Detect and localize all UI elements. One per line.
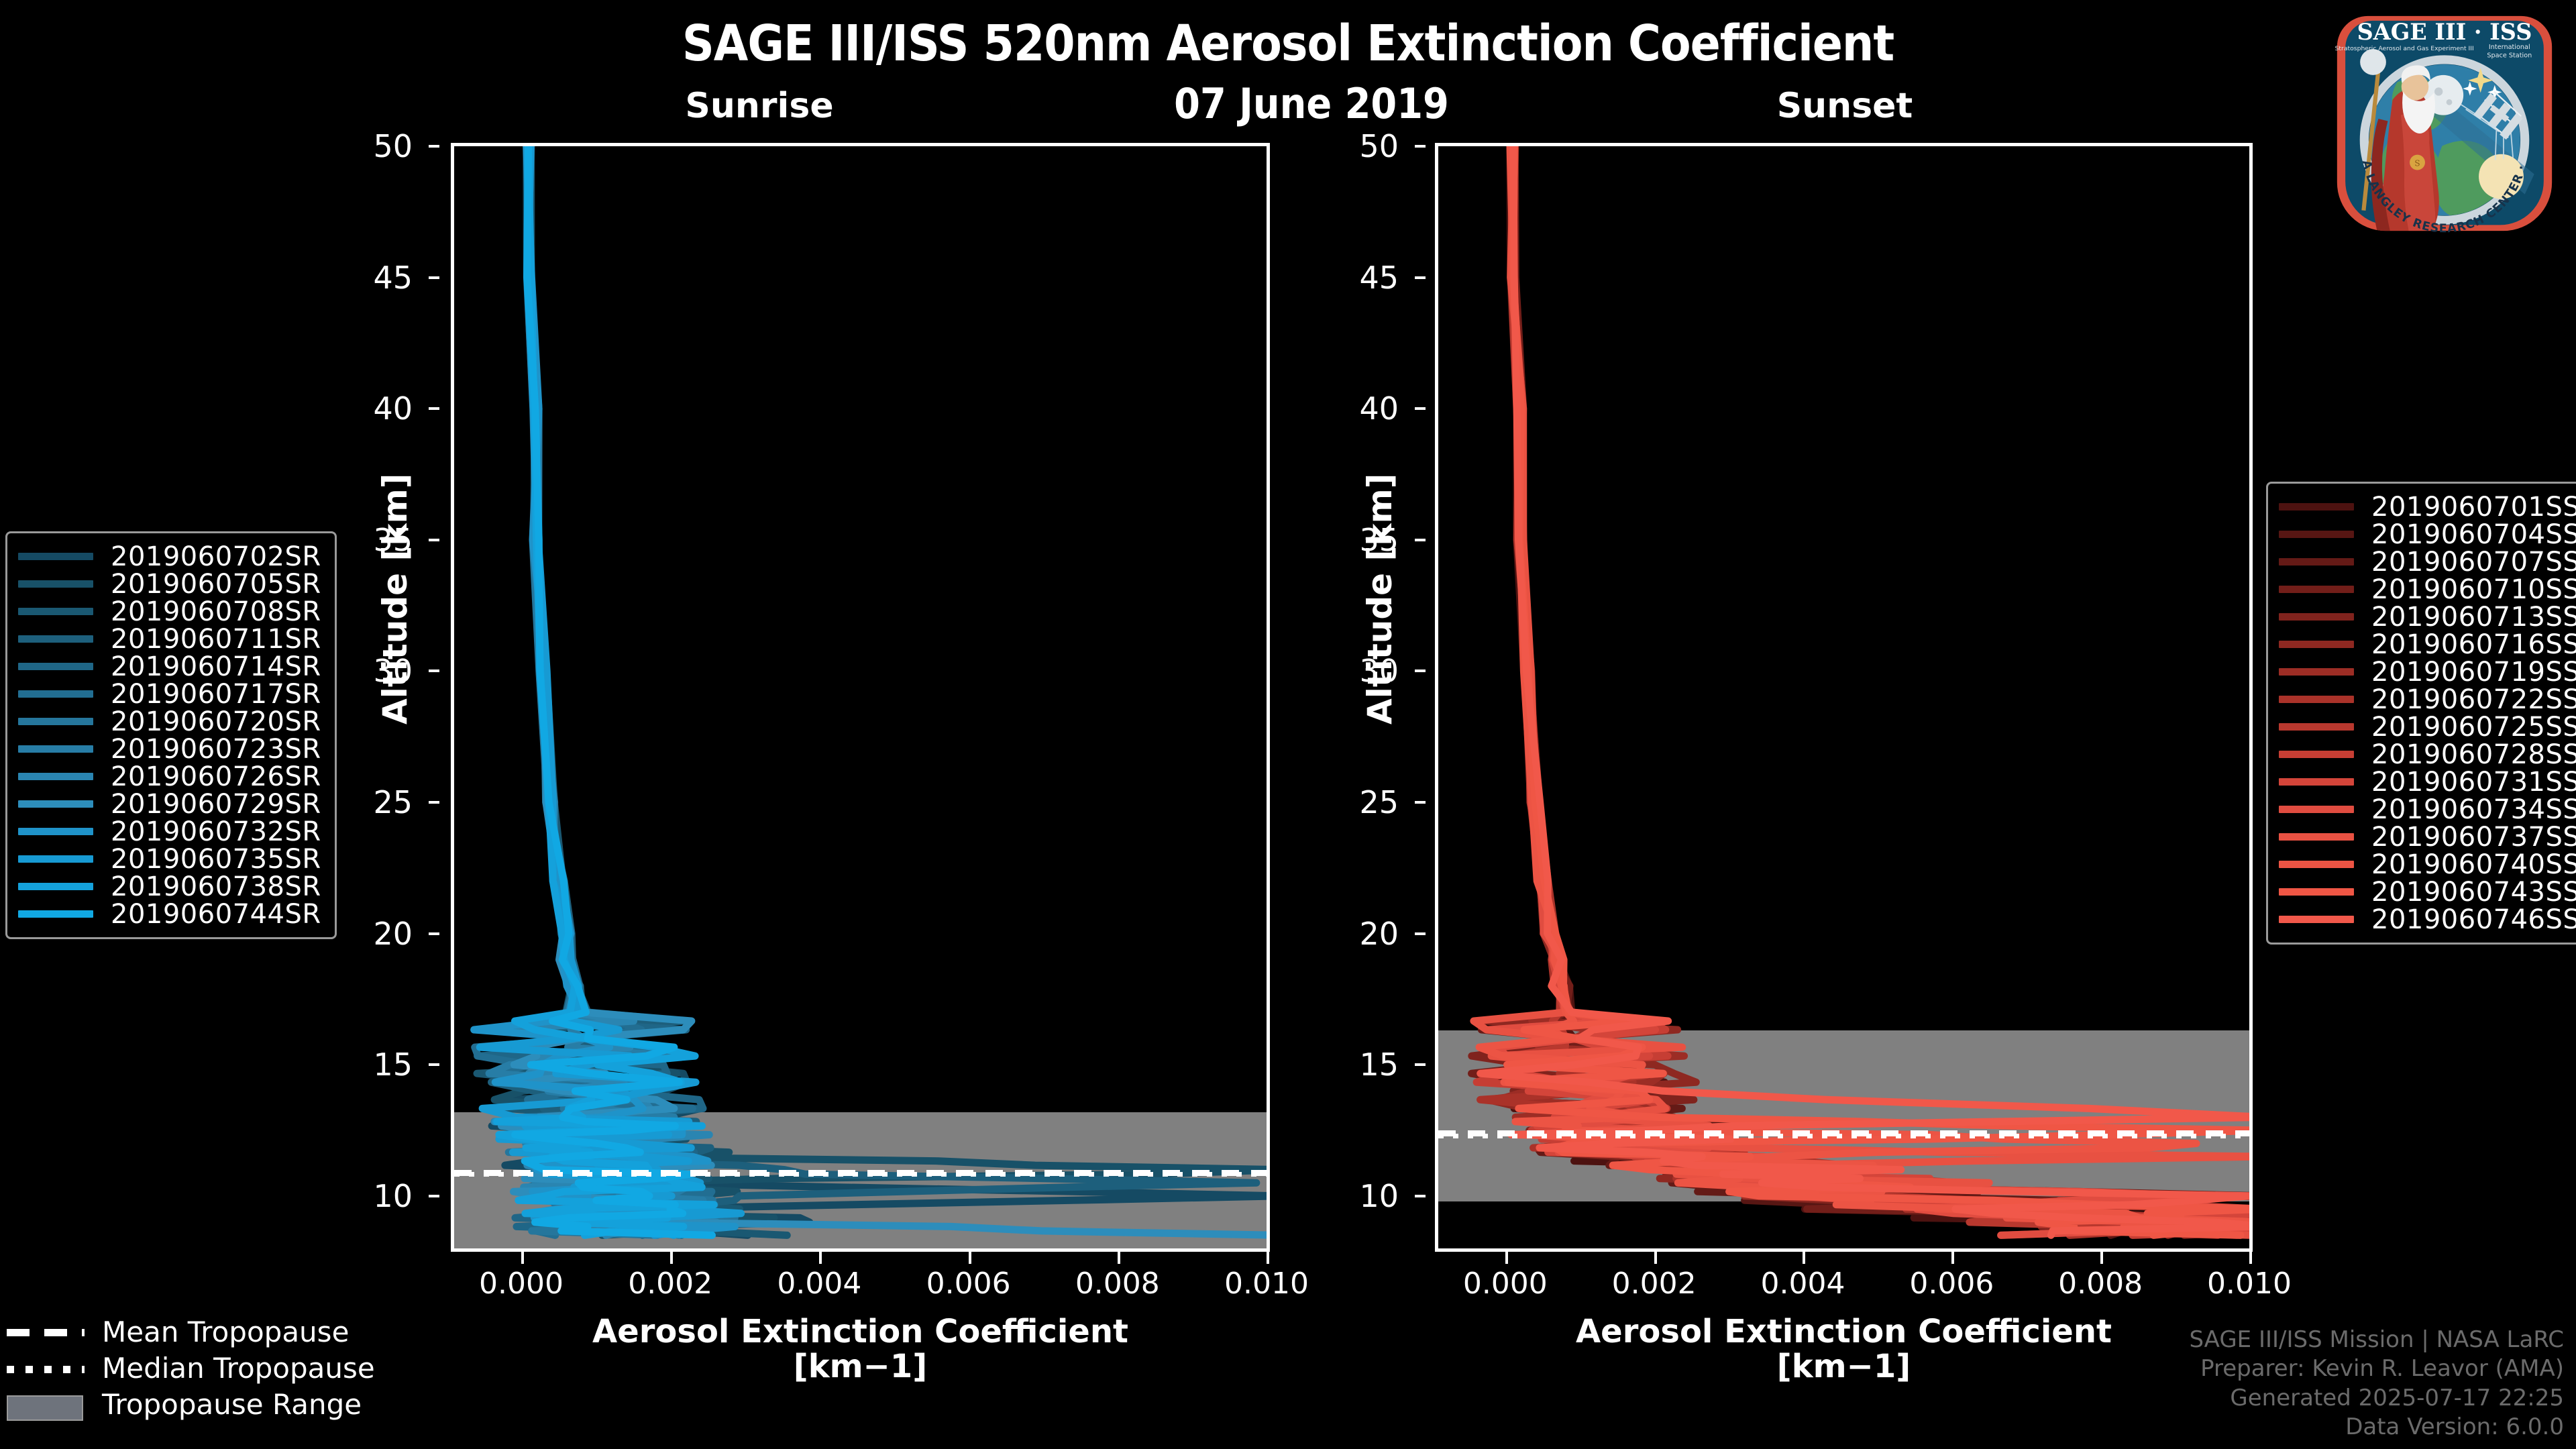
legend-item[interactable]: 2019060731SS (2279, 768, 2576, 796)
legend-item-label: 2019060738SR (111, 871, 321, 902)
plot-area-sunrise (451, 143, 1270, 1252)
legend-sunrise[interactable]: 2019060702SR2019060705SR2019060708SR2019… (5, 531, 337, 939)
x-axis-title-sunset: Aerosol Extinction Coefficient [km−1] (1435, 1315, 2253, 1385)
plot-area-sunset (1435, 143, 2253, 1252)
legend-item[interactable]: 2019060740SS (2279, 851, 2576, 878)
legend-item-label: 2019060734SS (2371, 794, 2576, 825)
x-tick-mark (2249, 1252, 2252, 1264)
legend-color-swatch (18, 828, 93, 835)
legend-item[interactable]: 2019060714SR (18, 653, 321, 680)
legend-color-swatch (18, 910, 93, 918)
x-tick-mark (969, 1252, 971, 1264)
x-tick-mark (1505, 1252, 1508, 1264)
legend-item[interactable]: 2019060746SS (2279, 906, 2576, 933)
legend-item[interactable]: 2019060702SR (18, 543, 321, 570)
y-tick-mark (1415, 801, 1426, 804)
legend-color-swatch (2279, 888, 2354, 896)
x-tick-mark (1951, 1252, 1954, 1264)
legend-item[interactable]: 2019060744SR (18, 900, 321, 928)
y-tick-label: 50 (373, 128, 413, 164)
y-axis-title-sunrise: Altitude [km] (376, 473, 415, 724)
legend-color-swatch (2279, 861, 2354, 868)
legend-item-label: 2019060728SS (2371, 739, 2576, 770)
logo-subtitle-right-1: International (2489, 44, 2530, 51)
x-tick-label: 0.000 (1432, 1267, 1579, 1301)
legend-color-swatch (2279, 613, 2354, 621)
legend-item[interactable]: 2019060732SR (18, 818, 321, 845)
x-tick-label: 0.008 (2027, 1267, 2174, 1301)
y-tick-mark (429, 539, 439, 541)
y-tick-mark (429, 276, 439, 279)
tropopause-legend-item: Tropopause Range (7, 1386, 375, 1422)
mean-tropopause-key (7, 1323, 85, 1340)
y-tick-label: 10 (373, 1178, 413, 1214)
y-tick-label: 15 (1359, 1046, 1399, 1083)
legend-item-label: 2019060705SR (111, 569, 321, 600)
y-tick-mark (429, 407, 439, 410)
svg-text:S: S (2414, 158, 2420, 168)
legend-color-swatch (2279, 503, 2354, 511)
legend-item[interactable]: 2019060726SR (18, 763, 321, 790)
y-tick-label: 25 (1359, 784, 1399, 820)
legend-item[interactable]: 2019060707SS (2279, 548, 2576, 576)
legend-item-label: 2019060723SR (111, 734, 321, 765)
legend-item-label: 2019060711SR (111, 624, 321, 655)
y-tick-label: 50 (1359, 128, 1399, 164)
legend-item[interactable]: 2019060716SS (2279, 631, 2576, 658)
legend-item-label: 2019060720SR (111, 706, 321, 737)
legend-color-swatch (18, 690, 93, 698)
legend-item-label: 2019060746SS (2371, 904, 2576, 935)
legend-color-swatch (18, 718, 93, 725)
credits-block: SAGE III/ISS Mission | NASA LaRCPreparer… (2189, 1326, 2564, 1442)
legend-item[interactable]: 2019060719SS (2279, 658, 2576, 686)
legend-item-label: 2019060702SR (111, 541, 321, 572)
date-subtitle: 07 June 2019 (1010, 79, 1613, 128)
x-tick-label: 0.004 (745, 1267, 893, 1301)
x-axis-title-line1: Aerosol Extinction Coefficient (1435, 1315, 2253, 1350)
x-tick-label: 0.006 (895, 1267, 1042, 1301)
x-tick-mark (819, 1252, 822, 1264)
series-line (1507, 146, 2250, 1235)
y-tick-mark (429, 932, 439, 935)
legend-item[interactable]: 2019060701SS (2279, 493, 2576, 521)
x-tick-label: 0.006 (1878, 1267, 2025, 1301)
legend-item-label: 2019060701SS (2371, 492, 2576, 523)
legend-sunset[interactable]: 2019060701SS2019060704SS2019060707SS2019… (2266, 482, 2576, 945)
legend-item-label: 2019060737SS (2371, 822, 2576, 853)
x-axis-title-line2: [km−1] (451, 1350, 1270, 1385)
page-title: SAGE III/ISS 520nm Aerosol Extinction Co… (0, 15, 2576, 72)
y-tick-mark (429, 801, 439, 804)
x-axis-title-sunrise: Aerosol Extinction Coefficient [km−1] (451, 1315, 1270, 1385)
legend-color-swatch (18, 608, 93, 615)
legend-item[interactable]: 2019060711SR (18, 625, 321, 653)
series-line (502, 146, 1267, 1235)
legend-color-swatch (18, 800, 93, 808)
legend-item-label: 2019060722SS (2371, 684, 2576, 715)
legend-item-label: 2019060719SS (2371, 657, 2576, 688)
x-axis-title-line2: [km−1] (1435, 1350, 2253, 1385)
legend-color-swatch (2279, 558, 2354, 566)
x-axis-title-line1: Aerosol Extinction Coefficient (451, 1315, 1270, 1350)
y-tick-label: 25 (373, 784, 413, 820)
legend-item[interactable]: 2019060729SR (18, 790, 321, 818)
logo-subtitle-left: Stratospheric Aerosol and Gas Experiment… (2335, 45, 2474, 52)
x-tick-label: 0.002 (596, 1267, 744, 1301)
y-tick-mark (1415, 669, 1426, 672)
legend-item[interactable]: 2019060705SR (18, 570, 321, 598)
legend-item-label: 2019060716SS (2371, 629, 2576, 660)
x-tick-label: 0.010 (2176, 1267, 2323, 1301)
x-tick-label: 0.008 (1044, 1267, 1191, 1301)
legend-color-swatch (2279, 916, 2354, 923)
legend-item[interactable]: 2019060735SR (18, 845, 321, 873)
x-tick-mark (1118, 1252, 1120, 1264)
legend-item-label: 2019060743SS (2371, 877, 2576, 908)
legend-item-label: 2019060732SR (111, 816, 321, 847)
legend-item-label: 2019060729SR (111, 789, 321, 820)
legend-color-swatch (18, 745, 93, 753)
tropopause-range-key (7, 1395, 85, 1413)
legend-item[interactable]: 2019060704SS (2279, 521, 2576, 548)
legend-item-label: 2019060740SS (2371, 849, 2576, 880)
legend-item[interactable]: 2019060725SS (2279, 713, 2576, 741)
legend-color-swatch (2279, 806, 2354, 813)
legend-color-swatch (2279, 833, 2354, 841)
mean-tropopause-line (454, 1170, 1267, 1176)
x-tick-mark (2100, 1252, 2103, 1264)
y-tick-mark (1415, 1195, 1426, 1197)
x-tick-label: 0.010 (1193, 1267, 1340, 1301)
y-tick-mark (429, 145, 439, 148)
legend-item[interactable]: 2019060737SS (2279, 823, 2576, 851)
legend-item[interactable]: 2019060710SS (2279, 576, 2576, 603)
series-lines (454, 146, 1267, 1248)
tropopause-legend-label: Mean Tropopause (102, 1316, 349, 1348)
legend-color-swatch (2279, 531, 2354, 538)
legend-color-swatch (2279, 723, 2354, 731)
legend-item[interactable]: 2019060734SS (2279, 796, 2576, 823)
y-tick-label: 10 (1359, 1178, 1399, 1214)
median-tropopause-key (7, 1359, 85, 1377)
legend-item-label: 2019060717SR (111, 679, 321, 710)
y-tick-mark (1415, 1063, 1426, 1066)
y-tick-label: 20 (373, 916, 413, 952)
legend-item-label: 2019060735SR (111, 844, 321, 875)
y-tick-mark (429, 1195, 439, 1197)
x-tick-mark (1267, 1252, 1269, 1264)
legend-color-swatch (18, 773, 93, 780)
legend-color-swatch (18, 855, 93, 863)
y-tick-label: 45 (1359, 260, 1399, 296)
legend-item-label: 2019060710SS (2371, 574, 2576, 605)
y-tick-mark (429, 1063, 439, 1066)
y-tick-mark (1415, 539, 1426, 541)
legend-item[interactable]: 2019060723SR (18, 735, 321, 763)
tropopause-legend-label: Median Tropopause (102, 1352, 375, 1385)
legend-item[interactable]: 2019060717SR (18, 680, 321, 708)
sage-iii-iss-logo: S SAGE III · ISS Stratospheric Aerosol a… (2326, 5, 2563, 241)
y-tick-mark (1415, 276, 1426, 279)
legend-color-swatch (2279, 641, 2354, 648)
x-tick-mark (670, 1252, 673, 1264)
credits-line: Generated 2025-07-17 22:25 (2189, 1384, 2564, 1413)
legend-color-swatch (2279, 696, 2354, 703)
legend-item[interactable]: 2019060728SS (2279, 741, 2576, 768)
legend-color-swatch (2279, 668, 2354, 676)
y-tick-label: 45 (373, 260, 413, 296)
x-tick-mark (521, 1252, 524, 1264)
legend-item-label: 2019060726SR (111, 761, 321, 792)
legend-color-swatch (18, 635, 93, 643)
legend-color-swatch (18, 580, 93, 588)
y-tick-mark (1415, 145, 1426, 148)
x-tick-mark (1654, 1252, 1657, 1264)
y-tick-mark (1415, 932, 1426, 935)
y-tick-mark (429, 669, 439, 672)
legend-item[interactable]: 2019060743SS (2279, 878, 2576, 906)
panel-subtitle-sunset: Sunset (1724, 86, 1966, 126)
x-tick-label: 0.004 (1729, 1267, 1876, 1301)
series-lines (1438, 146, 2249, 1248)
legend-tropopause: Mean TropopauseMedian TropopauseTropopau… (7, 1313, 375, 1422)
y-tick-label: 40 (373, 390, 413, 427)
mean-tropopause-line (1438, 1130, 2249, 1136)
y-tick-label: 40 (1359, 390, 1399, 427)
credits-line: SAGE III/ISS Mission | NASA LaRC (2189, 1326, 2564, 1355)
legend-item-label: 2019060708SR (111, 596, 321, 627)
legend-color-swatch (18, 883, 93, 890)
y-tick-label: 15 (373, 1046, 413, 1083)
y-axis-sunset: 101520253035404550 (1254, 143, 1426, 1252)
legend-item-label: 2019060714SR (111, 651, 321, 682)
legend-item-label: 2019060713SS (2371, 602, 2576, 633)
tropopause-legend-item: Median Tropopause (7, 1350, 375, 1386)
legend-item-label: 2019060725SS (2371, 712, 2576, 743)
y-tick-mark (1415, 407, 1426, 410)
tropopause-legend-item: Mean Tropopause (7, 1313, 375, 1350)
legend-item-label: 2019060704SS (2371, 519, 2576, 550)
credits-line: Preparer: Kevin R. Leavor (AMA) (2189, 1354, 2564, 1384)
legend-color-swatch (18, 553, 93, 560)
legend-color-swatch (2279, 751, 2354, 758)
logo-title: SAGE III · ISS (2357, 19, 2532, 45)
legend-item[interactable]: 2019060720SR (18, 708, 321, 735)
legend-color-swatch (2279, 586, 2354, 593)
legend-item-label: 2019060744SR (111, 899, 321, 930)
legend-item[interactable]: 2019060708SR (18, 598, 321, 625)
y-axis-title-sunset: Altitude [km] (1360, 473, 1399, 724)
x-axis-sunset: 0.0000.0020.0040.0060.0080.010 (1435, 1252, 2253, 1305)
x-tick-label: 0.000 (447, 1267, 595, 1301)
legend-item[interactable]: 2019060713SS (2279, 603, 2576, 631)
x-axis-sunrise: 0.0000.0020.0040.0060.0080.010 (451, 1252, 1270, 1305)
credits-line: Data Version: 6.0.0 (2189, 1413, 2564, 1442)
y-tick-label: 20 (1359, 916, 1399, 952)
x-tick-mark (1803, 1252, 1805, 1264)
x-tick-label: 0.002 (1580, 1267, 1728, 1301)
legend-color-swatch (18, 663, 93, 670)
legend-item-label: 2019060731SS (2371, 767, 2576, 798)
panel-subtitle-sunrise: Sunrise (652, 86, 867, 126)
legend-color-swatch (2279, 778, 2354, 786)
logo-subtitle-right-2: Space Station (2487, 52, 2532, 59)
tropopause-legend-label: Tropopause Range (102, 1388, 362, 1421)
legend-item-label: 2019060707SS (2371, 547, 2576, 578)
legend-item[interactable]: 2019060738SR (18, 873, 321, 900)
legend-item[interactable]: 2019060722SS (2279, 686, 2576, 713)
